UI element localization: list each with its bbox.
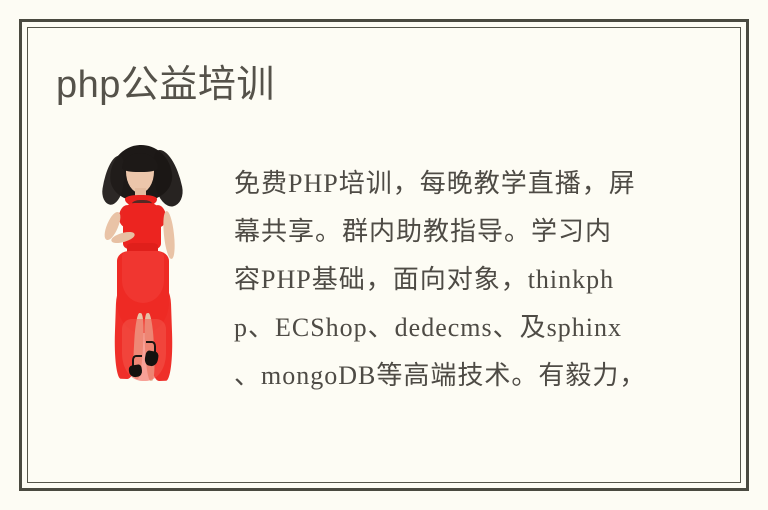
description-line: p、ECShop、dedecms、及sphinx <box>234 304 670 352</box>
woman-in-red-dress-photo <box>84 143 202 383</box>
description-line: 幕共享。群内助教指导。学习内 <box>234 208 670 256</box>
description-line: 、mongoDB等高端技术。有毅力， <box>234 352 670 400</box>
description-text: 免费PHP培训，每晚教学直播，屏 幕共享。群内助教指导。学习内 容PHP基础，面… <box>234 160 670 400</box>
page-root: php公益培训 免费PHP培训，每晚教学直播，屏 幕共享。群内助教指导。学习内 … <box>0 0 768 510</box>
description-line: 容PHP基础，面向对象，thinkph <box>234 256 670 304</box>
page-title: php公益培训 <box>56 62 275 108</box>
skirt-highlight <box>122 251 164 303</box>
description-line: 免费PHP培训，每晚教学直播，屏 <box>234 160 670 208</box>
